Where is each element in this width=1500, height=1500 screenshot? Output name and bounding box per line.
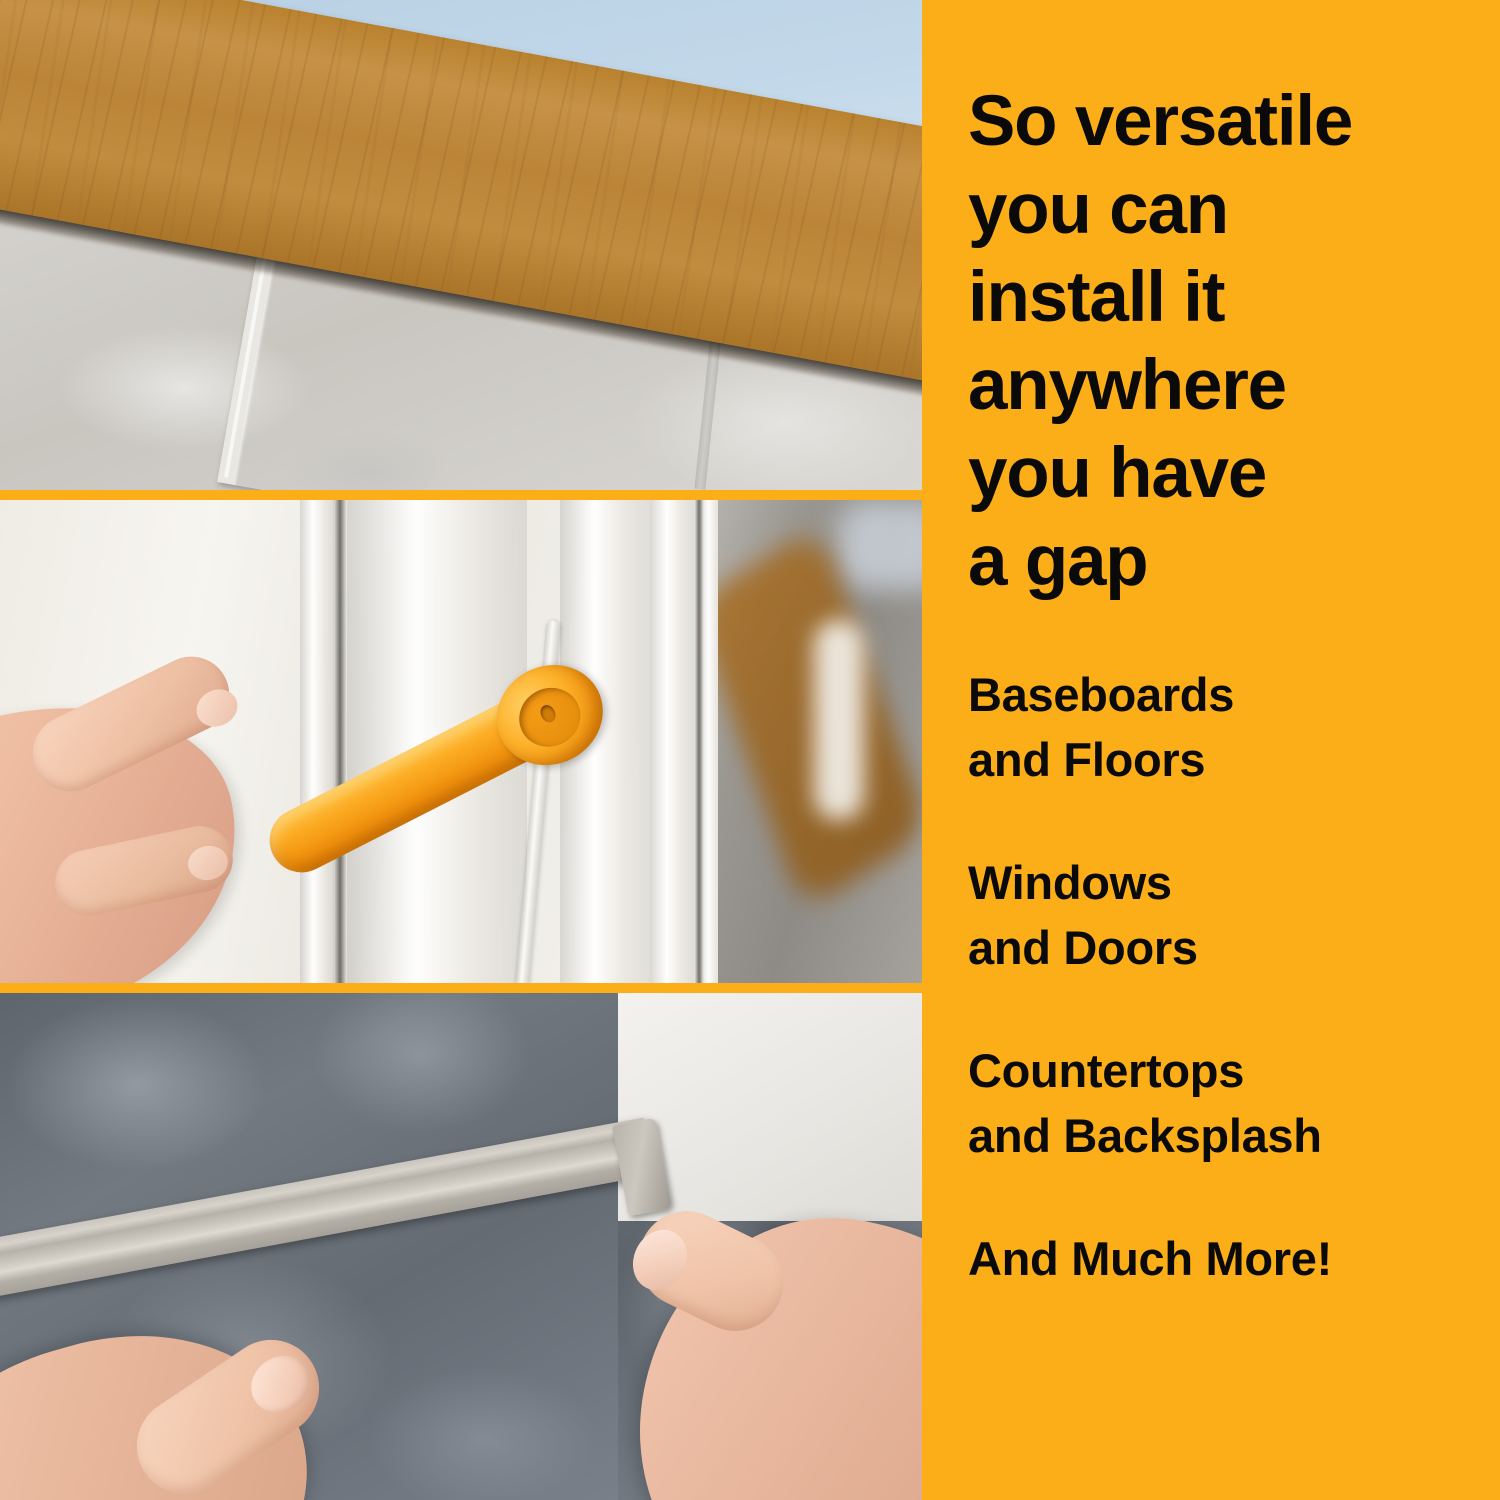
feature-item-and-much-more: And Much More! bbox=[968, 1226, 1488, 1291]
product-feature-graphic: So versatile you can install it anywhere… bbox=[0, 0, 1500, 1500]
feature-item-baseboards: Baseboards and Floors bbox=[968, 662, 1488, 792]
photo-divider bbox=[0, 490, 922, 500]
photo-baseboard bbox=[0, 0, 922, 490]
window-glass bbox=[718, 500, 922, 983]
photo-divider bbox=[0, 983, 922, 993]
photo-stone bbox=[0, 993, 922, 1500]
photo-column bbox=[0, 0, 922, 1500]
frame-trim-4 bbox=[650, 500, 694, 983]
photo-window bbox=[0, 500, 922, 983]
feature-item-countertops: Countertops and Backsplash bbox=[968, 1038, 1488, 1168]
headline: So versatile you can install it anywhere… bbox=[968, 78, 1478, 606]
glass-reflection-light bbox=[814, 620, 864, 820]
text-panel: So versatile you can install it anywhere… bbox=[922, 0, 1500, 1500]
feature-list: Baseboards and Floors Windows and Doors … bbox=[968, 662, 1488, 1291]
feature-item-windows: Windows and Doors bbox=[968, 850, 1488, 980]
glass-reflection-top bbox=[838, 500, 922, 590]
